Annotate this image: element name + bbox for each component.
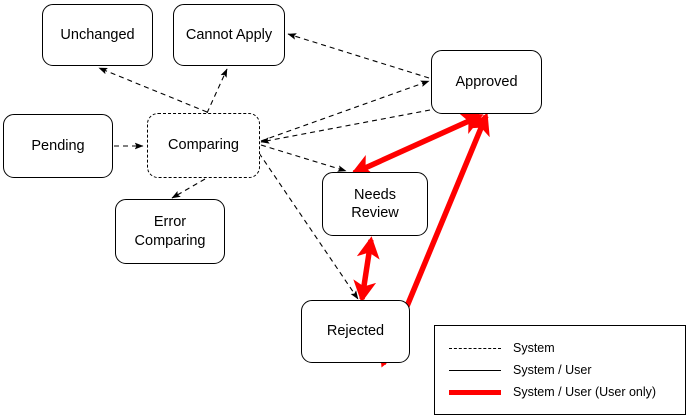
edge-comparing-to-error[interactable]	[172, 179, 205, 198]
edge-approved-to-comparing[interactable]	[261, 110, 430, 142]
state-node-label: Needs Review	[347, 186, 403, 222]
state-node-unchanged[interactable]: Unchanged	[42, 4, 153, 66]
state-node-error_comparing[interactable]: Error Comparing	[115, 199, 225, 264]
state-node-needs_review[interactable]: Needs Review	[322, 172, 428, 236]
state-node-label: Unchanged	[56, 26, 138, 44]
state-node-label: Comparing	[164, 136, 243, 154]
state-node-label: Error Comparing	[131, 213, 210, 249]
state-diagram-canvas: UnchangedCannot ApplyPendingComparingErr…	[0, 0, 691, 420]
edge-comparing-to-unchanged[interactable]	[99, 68, 207, 112]
legend-row-legend-system: System	[449, 337, 685, 359]
state-node-label: Pending	[27, 137, 88, 155]
edge-approved-needs-review[interactable]	[354, 116, 480, 173]
edge-needs-review-rejected[interactable]	[362, 240, 371, 299]
legend-swatch-solid-icon	[449, 370, 501, 371]
state-node-cannot_apply[interactable]: Cannot Apply	[173, 4, 285, 66]
edge-approved-to-cannot-apply[interactable]	[288, 34, 429, 78]
state-node-approved[interactable]: Approved	[431, 50, 542, 114]
edge-comparing-to-cannot-apply[interactable]	[207, 69, 227, 113]
legend-box: SystemSystem / UserSystem / User (User o…	[434, 325, 686, 415]
state-node-label: Rejected	[323, 322, 388, 340]
legend-row-legend-system-user: System / User	[449, 359, 685, 381]
legend-swatch-dashed-icon	[449, 348, 501, 349]
edge-comparing-to-needs-review[interactable]	[261, 145, 346, 171]
state-node-pending[interactable]: Pending	[3, 114, 113, 178]
legend-label: System	[513, 341, 555, 355]
legend-swatch-thick-red-icon	[449, 390, 501, 395]
legend-label: System / User	[513, 363, 592, 377]
state-node-comparing[interactable]: Comparing	[147, 113, 260, 178]
legend-row-legend-user-only: System / User (User only)	[449, 381, 685, 403]
state-node-rejected[interactable]: Rejected	[301, 300, 410, 363]
legend-label: System / User (User only)	[513, 385, 656, 399]
state-node-label: Approved	[451, 73, 521, 91]
state-node-label: Cannot Apply	[182, 26, 276, 44]
edge-comparing-to-approved[interactable]	[261, 81, 429, 141]
